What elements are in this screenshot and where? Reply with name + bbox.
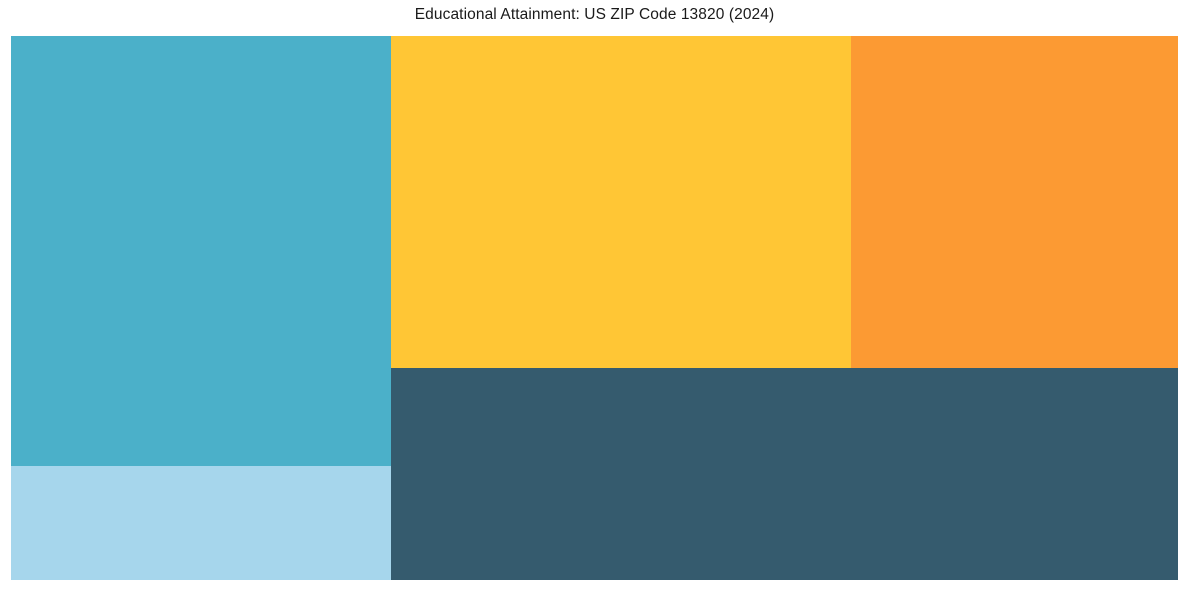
treemap-tile[interactable]: Bachelor's degree xyxy=(391,36,851,368)
treemap-tile[interactable]: Some college, no degree xyxy=(11,36,391,466)
chart-title: Educational Attainment: US ZIP Code 1382… xyxy=(0,6,1189,24)
treemap-figure: Educational Attainment: US ZIP Code 1382… xyxy=(0,0,1189,590)
treemap-plot-area: High school graduate (includes equivalen… xyxy=(11,36,1178,580)
treemap-tile[interactable]: High school graduate (includes equivalen… xyxy=(391,368,1178,580)
treemap-tile[interactable]: Graduate or professional degree xyxy=(851,36,1178,368)
treemap-tile[interactable]: Associate's degree xyxy=(11,466,391,580)
